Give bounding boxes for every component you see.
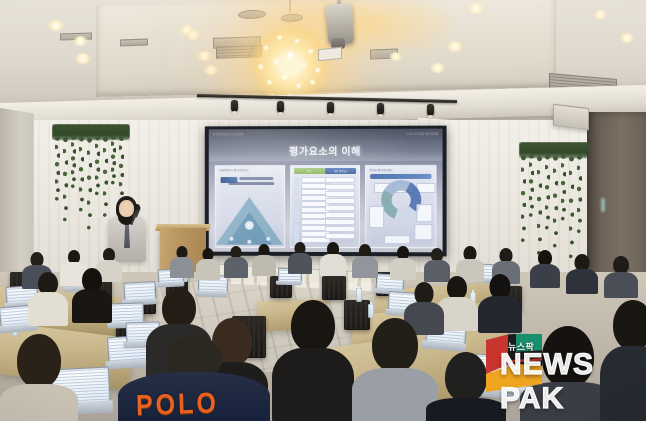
attendee-head <box>291 300 335 352</box>
downlight-6 <box>75 53 91 64</box>
ivy-strand <box>529 152 534 222</box>
microphone-head-icon <box>134 204 140 210</box>
ivy-strand <box>545 152 550 236</box>
slide-panel-cycle: 평가요소별 연계 흐름도 <box>365 165 436 248</box>
attendee <box>224 246 248 276</box>
ceiling-slot-left2 <box>120 39 148 47</box>
table-row <box>325 191 355 197</box>
slide-panel-table: 평 가 세부 평가요소 <box>290 165 361 248</box>
table-group-label <box>294 200 299 222</box>
track-spotlight-4 <box>377 103 384 115</box>
table-row <box>325 233 355 239</box>
table-row <box>325 226 355 232</box>
table-group-label <box>294 225 299 243</box>
attendee-body <box>28 292 68 326</box>
attendee-body <box>272 348 354 421</box>
attendee-body <box>390 258 416 280</box>
ivy-strand <box>95 134 100 200</box>
attendee <box>72 268 112 318</box>
ivy-strand <box>103 134 108 224</box>
ivy-strand <box>71 134 76 192</box>
cycle-box-bottom-right <box>414 224 432 240</box>
attendee <box>390 246 416 278</box>
pyramid-node <box>230 237 234 241</box>
laptop-base <box>276 280 302 285</box>
water-bottle <box>356 288 362 302</box>
watermark: 뉴스팍 NEWS PAK <box>486 332 646 394</box>
attendee-body <box>196 259 220 280</box>
downlight-14 <box>594 10 607 19</box>
attendee <box>252 244 276 274</box>
panel-1-heading-line1 <box>239 177 273 180</box>
attendee-body <box>252 255 276 276</box>
attendee <box>28 272 68 322</box>
attendee-body <box>0 384 78 421</box>
attendee-body <box>426 398 506 421</box>
downlight-1 <box>48 20 64 31</box>
ivy-strand <box>537 152 542 264</box>
attendee <box>604 256 638 296</box>
track-spotlight-5 <box>427 104 434 116</box>
ivy-strand <box>521 152 526 250</box>
attendee-body <box>224 257 248 278</box>
downlight-9 <box>430 63 445 73</box>
projector-label-plate <box>318 47 342 62</box>
attendee <box>288 242 312 272</box>
ivy-strand <box>87 134 92 238</box>
downlight-10 <box>468 3 484 14</box>
slide-title-band: 평가요소의 이해 <box>209 139 443 161</box>
downlight-13 <box>620 33 634 43</box>
table-row <box>325 219 355 225</box>
panel-3-header: 평가요소별 연계 흐름도 <box>369 168 432 172</box>
slide-header-left: 한국보건의료인국가시험원 <box>213 132 244 136</box>
attendee <box>352 244 378 276</box>
attendee <box>320 242 346 274</box>
ivy-strand <box>577 152 582 240</box>
attendee-body <box>530 264 560 288</box>
attendee <box>170 246 194 276</box>
cycle-swirl-diagram <box>381 180 421 220</box>
downlight-7 <box>204 65 218 75</box>
downlight-2 <box>73 36 88 46</box>
panel-1-header: 기관인증평가 기준 및 평가요소 <box>219 168 281 172</box>
track-spotlight-1 <box>231 100 238 112</box>
projection-screen: 한국보건의료인국가시험원 2024 교육과정 평가설명회 평가요소의 이해 기관… <box>205 126 447 257</box>
cycle-box-bottom <box>384 235 410 244</box>
attendee-body <box>170 257 194 278</box>
downlight-8 <box>447 41 463 52</box>
attendee <box>0 334 78 421</box>
chair <box>322 276 346 300</box>
table-row <box>325 212 355 218</box>
attendee-head <box>162 288 196 328</box>
water-bottle <box>368 304 374 318</box>
attendee-body <box>72 289 112 323</box>
track-spotlight-2 <box>277 101 284 113</box>
slide-title: 평가요소의 이해 <box>289 142 361 157</box>
table-row <box>325 205 355 211</box>
laptop-screen <box>112 304 143 322</box>
ivy-strand <box>553 152 558 256</box>
table-row <box>325 184 355 190</box>
attendee <box>478 274 522 330</box>
attendee-body <box>288 253 312 274</box>
table-col1-header: 평 가 <box>294 168 325 174</box>
downlight-5 <box>197 51 212 61</box>
downlight-11 <box>389 52 402 61</box>
ivy-strand <box>569 152 574 268</box>
attendee-body <box>566 269 598 294</box>
presenter-face <box>121 203 132 215</box>
attendee <box>530 250 560 286</box>
slide-panel-pyramid: 기관인증평가 기준 및 평가요소 <box>215 165 285 248</box>
ivy-strand <box>55 134 60 206</box>
table-row <box>325 198 355 204</box>
projected-slide: 한국보건의료인국가시험원 2024 교육과정 평가설명회 평가요소의 이해 기관… <box>209 129 443 253</box>
ivy-strand <box>63 134 68 229</box>
pyramid-node <box>266 237 270 241</box>
track-spotlight-3 <box>327 102 334 114</box>
slide-header-right: 2024 교육과정 평가설명회 <box>407 131 439 135</box>
slide-panels: 기관인증평가 기준 및 평가요소 평 가 세부 평가요소 <box>215 165 437 248</box>
attendee-body <box>604 272 638 298</box>
attendee-head <box>372 318 418 372</box>
cycle-band-label <box>370 174 431 179</box>
downlight-4 <box>186 30 200 40</box>
polo-shirt-text: POLO <box>135 386 244 421</box>
panel-1-heading-line2 <box>229 182 275 185</box>
attendee <box>566 254 598 292</box>
ivy-strand <box>111 134 116 188</box>
attendee <box>196 248 220 278</box>
pyramid-core-circle <box>245 221 254 230</box>
chair-slats <box>323 277 345 299</box>
attendee <box>272 300 354 421</box>
table-group-label <box>294 177 299 197</box>
ivy-strand <box>561 152 566 226</box>
attendee-head <box>445 352 487 402</box>
ivy-strand <box>79 134 84 218</box>
attendee-head <box>17 334 61 388</box>
attendee-body <box>478 296 522 333</box>
conference-photo: 한국보건의료인국가시험원 2024 교육과정 평가설명회 평가요소의 이해 기관… <box>0 0 646 421</box>
table-col2-header: 세부 평가요소 <box>325 168 356 174</box>
wall-speaker-icon <box>553 104 589 130</box>
table-row <box>325 177 355 183</box>
attendee-body <box>320 254 346 276</box>
cycle-box-left <box>369 206 384 228</box>
cycle-box-right <box>416 204 432 222</box>
attendee-body <box>352 256 378 278</box>
watermark-english: NEWS PAK <box>500 348 646 416</box>
